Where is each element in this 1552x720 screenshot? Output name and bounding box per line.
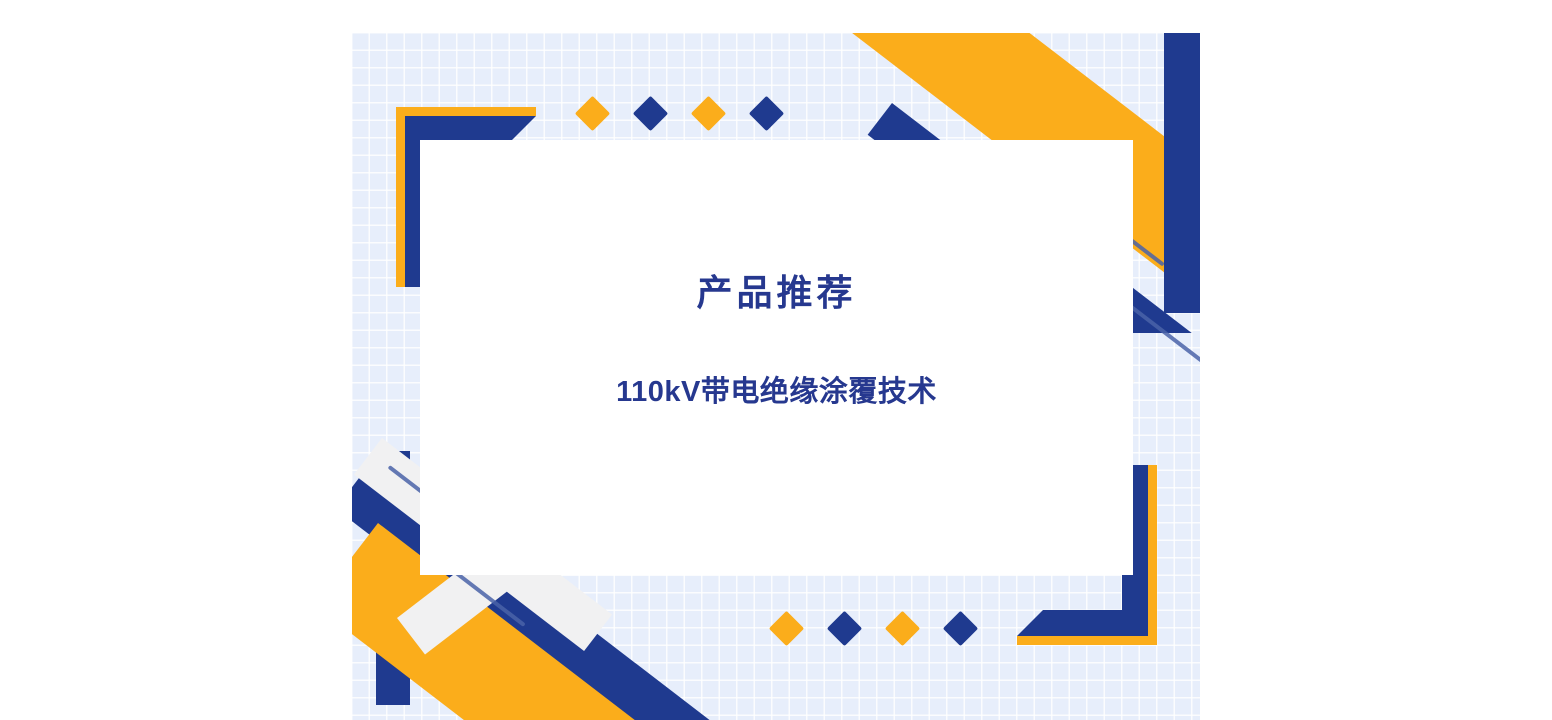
presentation-slide: 产品推荐 110kV带电绝缘涂覆技术 — [352, 33, 1200, 720]
diamond-row-bottom — [774, 616, 973, 641]
corner-bracket-top-left-orange-horizontal — [396, 107, 536, 116]
diamond-navy — [943, 611, 978, 646]
diamond-navy — [749, 96, 784, 131]
diamond-orange — [691, 96, 726, 131]
diamond-orange — [885, 611, 920, 646]
screenshot-canvas: 产品推荐 110kV带电绝缘涂覆技术 — [0, 0, 1552, 720]
corner-bracket-bottom-right-orange-horizontal — [1017, 636, 1157, 645]
corner-bracket-top-left-orange-vertical — [396, 107, 405, 287]
diamond-row-top — [580, 101, 779, 126]
diamond-orange — [575, 96, 610, 131]
navy-vertical-edge-right — [1164, 33, 1200, 313]
diamond-orange — [769, 611, 804, 646]
diamond-navy — [633, 96, 668, 131]
corner-bracket-bottom-right-orange-vertical — [1148, 465, 1157, 645]
diamond-navy — [827, 611, 862, 646]
content-card — [420, 140, 1133, 575]
